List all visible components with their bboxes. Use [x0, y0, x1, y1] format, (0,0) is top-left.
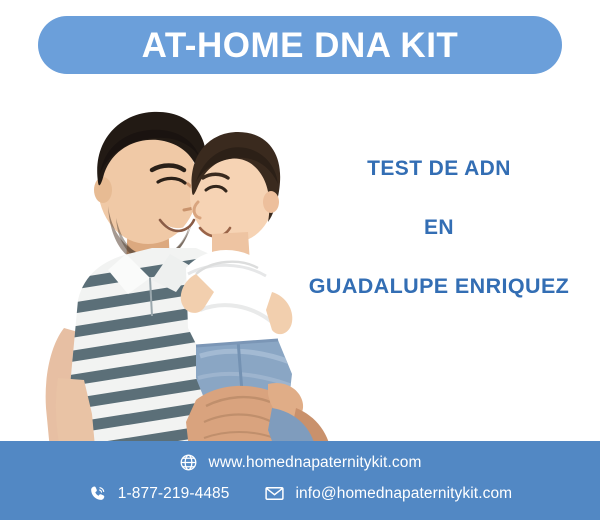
poster-canvas: AT-HOME DNA KIT [0, 0, 600, 520]
envelope-icon [264, 483, 285, 504]
website-item[interactable]: www.homednapaternitykit.com [179, 453, 422, 472]
footer-website-row: www.homednapaternitykit.com [0, 453, 600, 472]
phone-label: 1-877-219-4485 [118, 486, 230, 502]
headline-block: TEST DE ADN EN GUADALUPE ENRIQUEZ [286, 158, 592, 298]
headline-line-3: GUADALUPE ENRIQUEZ [286, 276, 592, 298]
headline-line-1: TEST DE ADN [286, 158, 592, 179]
headline-line-2: EN [286, 217, 592, 238]
header-banner: AT-HOME DNA KIT [38, 16, 562, 74]
email-item[interactable]: info@homednapaternitykit.com [264, 483, 513, 504]
page-title: AT-HOME DNA KIT [142, 28, 459, 63]
footer-contact-band: www.homednapaternitykit.com 1-877-219-44… [0, 441, 600, 520]
phone-icon [88, 484, 107, 503]
phone-item[interactable]: 1-877-219-4485 [88, 484, 230, 503]
website-label: www.homednapaternitykit.com [209, 455, 422, 471]
footer-phone-email-row: 1-877-219-4485 info@homednapaternitykit.… [0, 483, 600, 504]
email-label: info@homednapaternitykit.com [296, 486, 513, 502]
globe-icon [179, 453, 198, 472]
